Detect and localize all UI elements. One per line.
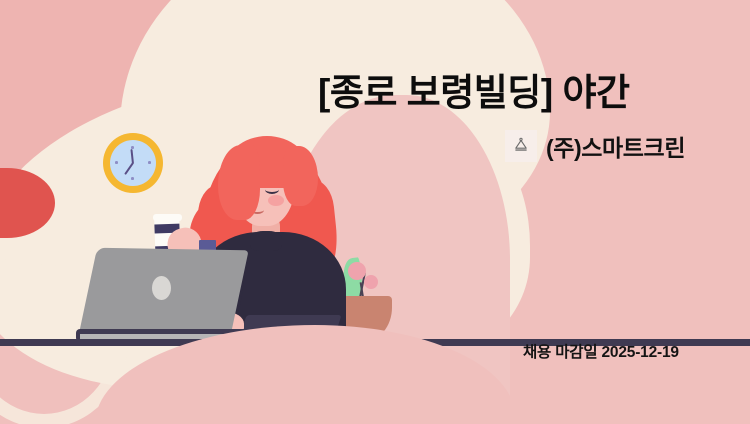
wall-clock-icon [103,133,163,193]
company-info: (주)스마트크린 [505,129,685,163]
laptop-lid-logo [152,276,171,300]
plant-flower-icon [348,262,366,280]
woman-turtleneck-collar [250,231,282,251]
plant-flower-icon [364,275,378,289]
clock-tick-dot [148,161,151,164]
woman-hair-front-left [218,145,260,220]
clock-tick-dot [131,177,134,180]
clock-tick-dot [115,161,118,164]
application-deadline: 채용 마감일 2025-12-19 [523,340,679,362]
job-posting-banner: [종로 보령빌딩] 야간 (주)스마트크린 채용 마감일 2025-12-19 [0,0,750,424]
hanger-icon [505,130,537,162]
page-title: [종로 보령빌딩] 야간 [318,72,698,115]
woman-blush-right [268,195,284,206]
company-name: (주)스마트크린 [546,129,685,163]
